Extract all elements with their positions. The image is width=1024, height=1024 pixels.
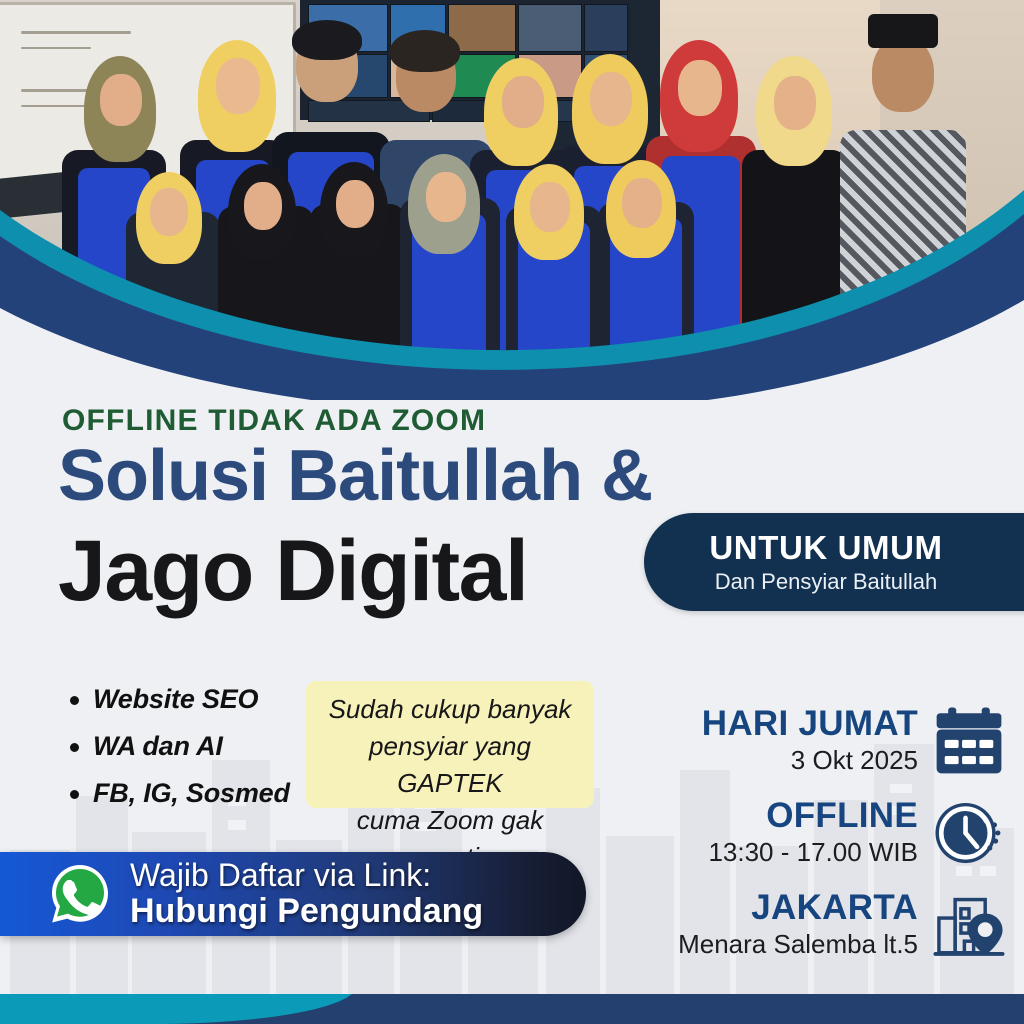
info-row-date-subtitle: 3 Okt 2025 [702,745,918,776]
info-row-location-text: JAKARTA Menara Salemba lt.5 [678,890,918,960]
register-cta-line2: Hubungi Pengundang [130,893,483,930]
info-row-time-subtitle: 13:30 - 17.00 WIB [708,837,918,868]
header-photo [0,0,1024,400]
info-row-location: JAKARTA Menara Salemba lt.5 [606,879,1006,971]
event-info-list: HARI JUMAT 3 Okt 2025 OFFLINE 13:30 - 17… [606,695,1006,971]
info-row-date-text: HARI JUMAT 3 Okt 2025 [702,706,918,776]
audience-badge-title: UNTUK UMUM [644,529,1008,567]
info-row-date-title: HARI JUMAT [702,706,918,743]
list-item: FB, IG, Sosmed [62,778,332,809]
audience-badge-subtitle: Dan Pensyiar Baitullah [644,569,1008,595]
bullet-dot-icon [70,743,79,752]
register-cta-line1: Wajib Daftar via Link: [130,858,483,893]
list-item-label: Website SEO [93,684,258,715]
info-row-date: HARI JUMAT 3 Okt 2025 [606,695,1006,787]
bullet-dot-icon [70,790,79,799]
highlight-note-body: Sudah cukup banyak pensyiar yang GAPTEK … [306,681,594,808]
highlight-note: Sudah cukup banyak pensyiar yang GAPTEK … [306,681,594,808]
register-cta-text: Wajib Daftar via Link: Hubungi Pengundan… [130,858,483,930]
feature-list: Website SEO WA dan AI FB, IG, Sosmed [62,684,332,825]
page-title-line2: Jago Digital [58,528,527,614]
calendar-icon [932,704,1006,778]
page-title-line1: Solusi Baitullah & [58,440,652,512]
audience-badge: UNTUK UMUM Dan Pensyiar Baitullah [644,513,1024,611]
list-item: Website SEO [62,684,332,715]
kicker-text: OFFLINE TIDAK ADA ZOOM [62,404,486,438]
info-row-time-text: OFFLINE 13:30 - 17.00 WIB [708,798,918,868]
info-row-time-title: OFFLINE [708,798,918,835]
whatsapp-icon [48,862,112,926]
list-item-label: WA dan AI [93,731,223,762]
info-row-location-title: JAKARTA [678,890,918,927]
highlight-note-line2: pensyiar yang GAPTEK [318,728,582,802]
info-row-location-subtitle: Menara Salemba lt.5 [678,929,918,960]
highlight-note-line1: Sudah cukup banyak [318,691,582,728]
bullet-dot-icon [70,696,79,705]
building-location-icon [932,888,1006,962]
info-row-time: OFFLINE 13:30 - 17.00 WIB [606,787,1006,879]
list-item-label: FB, IG, Sosmed [93,778,290,809]
bottom-strip [0,994,1024,1024]
poster-root: OFFLINE TIDAK ADA ZOOM Solusi Baitullah … [0,0,1024,1024]
clock-icon [932,796,1006,870]
register-cta-bar[interactable]: Wajib Daftar via Link: Hubungi Pengundan… [0,852,586,936]
wave-divider [0,150,1024,400]
list-item: WA dan AI [62,731,332,762]
